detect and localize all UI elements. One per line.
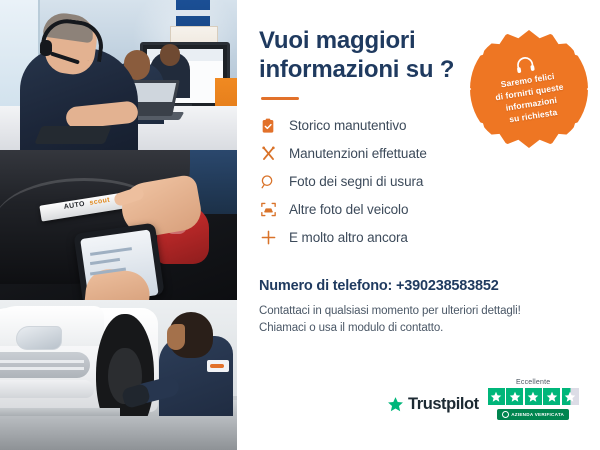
verified-badge: AZIENDA VERIFICATA <box>497 409 569 420</box>
verified-label: AZIENDA VERIFICATA <box>511 412 564 417</box>
title-divider <box>261 97 299 100</box>
feature-item-foto-usura: Foto dei segni di usura <box>259 168 578 196</box>
trustpilot-star-icon <box>387 396 404 413</box>
tools-cross-icon <box>259 145 277 163</box>
feature-label: Altre foto del veicolo <box>289 202 408 217</box>
page-title: Vuoi maggiori informazioni su ? <box>259 26 469 85</box>
clipboard-check-icon <box>259 117 277 135</box>
trustpilot-rating-block: Eccellente <box>488 379 579 420</box>
plus-icon <box>259 229 277 247</box>
advertisement-banner: AUTOscout <box>0 0 600 450</box>
star-filled <box>525 388 542 405</box>
star-half <box>562 388 579 405</box>
trustpilot-brand: Trustpilot <box>387 395 479 420</box>
trustpilot-rating-label: Eccellente <box>516 379 550 386</box>
car-scan-icon <box>259 201 277 219</box>
photo-column: AUTOscout <box>0 0 237 450</box>
car-on-lift-photo <box>0 300 237 450</box>
contact-line-2: Chiamaci o usa il modulo di contatto. <box>259 320 578 338</box>
check-circle-icon <box>502 411 509 418</box>
star-filled <box>543 388 560 405</box>
trustpilot-stars <box>488 388 579 405</box>
phone-line: Numero di telefono: +390238583852 <box>259 278 578 294</box>
star-filled <box>506 388 523 405</box>
trustpilot-widget[interactable]: Trustpilot Eccellente <box>387 379 579 420</box>
phone-label: Numero di telefono: <box>259 278 396 294</box>
trustpilot-wordmark: Trustpilot <box>408 395 479 414</box>
promo-badge: Saremo felici di fornirti queste informa… <box>470 30 588 148</box>
contact-instructions: Contattaci in qualsiasi momento per ulte… <box>259 303 578 339</box>
phone-number[interactable]: +390238583852 <box>396 278 499 294</box>
feature-label: Storico manutentivo <box>289 118 406 133</box>
feature-label: E molto altro ancora <box>289 230 408 245</box>
magnifier-icon <box>259 173 277 191</box>
vehicle-inspection-photo: AUTOscout <box>0 150 237 300</box>
star-filled <box>488 388 505 405</box>
content-panel: Vuoi maggiori informazioni su ? Saremo f… <box>237 0 600 450</box>
feature-item-altre-foto: Altre foto del veicolo <box>259 196 578 224</box>
feature-label: Manutenzioni effettuate <box>289 146 427 161</box>
headset-icon <box>514 55 536 74</box>
feature-label: Foto dei segni di usura <box>289 174 423 189</box>
call-center-photo <box>0 0 237 150</box>
feature-item-altro: E molto altro ancora <box>259 224 578 252</box>
contact-line-1: Contattaci in qualsiasi momento per ulte… <box>259 303 578 321</box>
